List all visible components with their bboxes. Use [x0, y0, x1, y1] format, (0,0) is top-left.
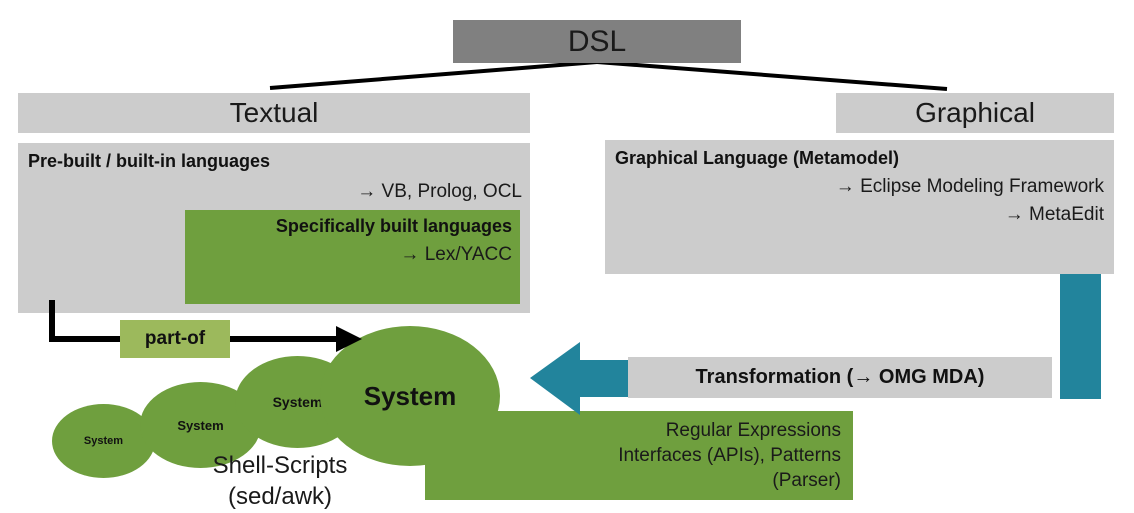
transformation-arrow-icon — [530, 342, 636, 415]
transformation-label: Transformation (→ OMG MDA) — [628, 357, 1052, 398]
part-of-label-box: part-of — [120, 320, 230, 358]
part-of-label: part-of — [120, 320, 230, 358]
shell-scripts-caption-line-1: Shell-Scripts — [150, 450, 410, 481]
shell-scripts-caption: Shell-Scripts (sed/awk) — [150, 450, 410, 512]
arrow-overlay — [0, 0, 1134, 513]
transformation-box: Transformation (→ OMG MDA) — [628, 357, 1052, 398]
part-of-arrowhead-icon — [336, 326, 362, 352]
diagram-canvas: DSL Textual Graphical Pre-built / built-… — [0, 0, 1134, 513]
shell-scripts-caption-line-2: (sed/awk) — [150, 481, 410, 512]
